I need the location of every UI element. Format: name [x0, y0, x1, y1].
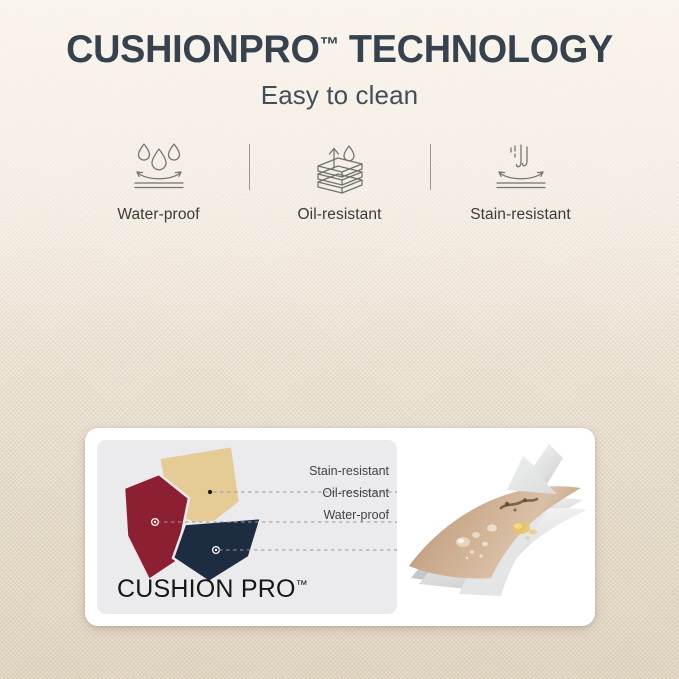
feature-label: Oil-resistant [298, 206, 382, 224]
feature-label: Stain-resistant [470, 206, 571, 224]
feature-item-stain-resistant: Stain-resistant [445, 138, 597, 224]
page-title: CUSHIONPRO™ TECHNOLOGY [10, 30, 669, 71]
trademark-symbol: ™ [320, 34, 339, 56]
oil-resistant-shape [124, 474, 189, 580]
curved-cushion-surface-repelling-liquid-photo [397, 428, 595, 626]
cushion-pro-logo-panel: Stain-resistant Oil-resistant Water-proo… [97, 440, 397, 614]
feature-item-water-proof: Water-proof [83, 138, 235, 224]
page-title-rest: TECHNOLOGY [339, 28, 613, 71]
liquid-repelling-curved-surface-icon [489, 138, 553, 194]
brand-trademark-symbol: ™ [296, 577, 308, 591]
product-feature-banner: CUSHIONPRO™ TECHNOLOGY Easy to clean Wat… [0, 0, 679, 679]
feature-item-oil-resistant: Oil-resistant [264, 138, 416, 224]
feature-divider [249, 144, 250, 190]
stacked-layers-upward-arrow-droplet-icon [308, 138, 372, 194]
water-droplets-repelling-surface-icon [127, 138, 191, 194]
feature-list: Water-proof Oil-resistan [0, 138, 679, 224]
cushion-top-surface [409, 486, 581, 578]
product-card: Stain-resistant Oil-resistant Water-proo… [85, 428, 595, 626]
page-subtitle: Easy to clean [0, 80, 679, 111]
header: CUSHIONPRO™ TECHNOLOGY Easy to clean [0, 30, 679, 111]
page-title-main: CUSHIONPRO [66, 28, 320, 71]
feature-label: Water-proof [117, 206, 199, 224]
brand-name: CUSHION PRO™ [117, 575, 308, 604]
feature-divider [430, 144, 431, 190]
brand-name-text: CUSHION PRO [117, 575, 296, 603]
